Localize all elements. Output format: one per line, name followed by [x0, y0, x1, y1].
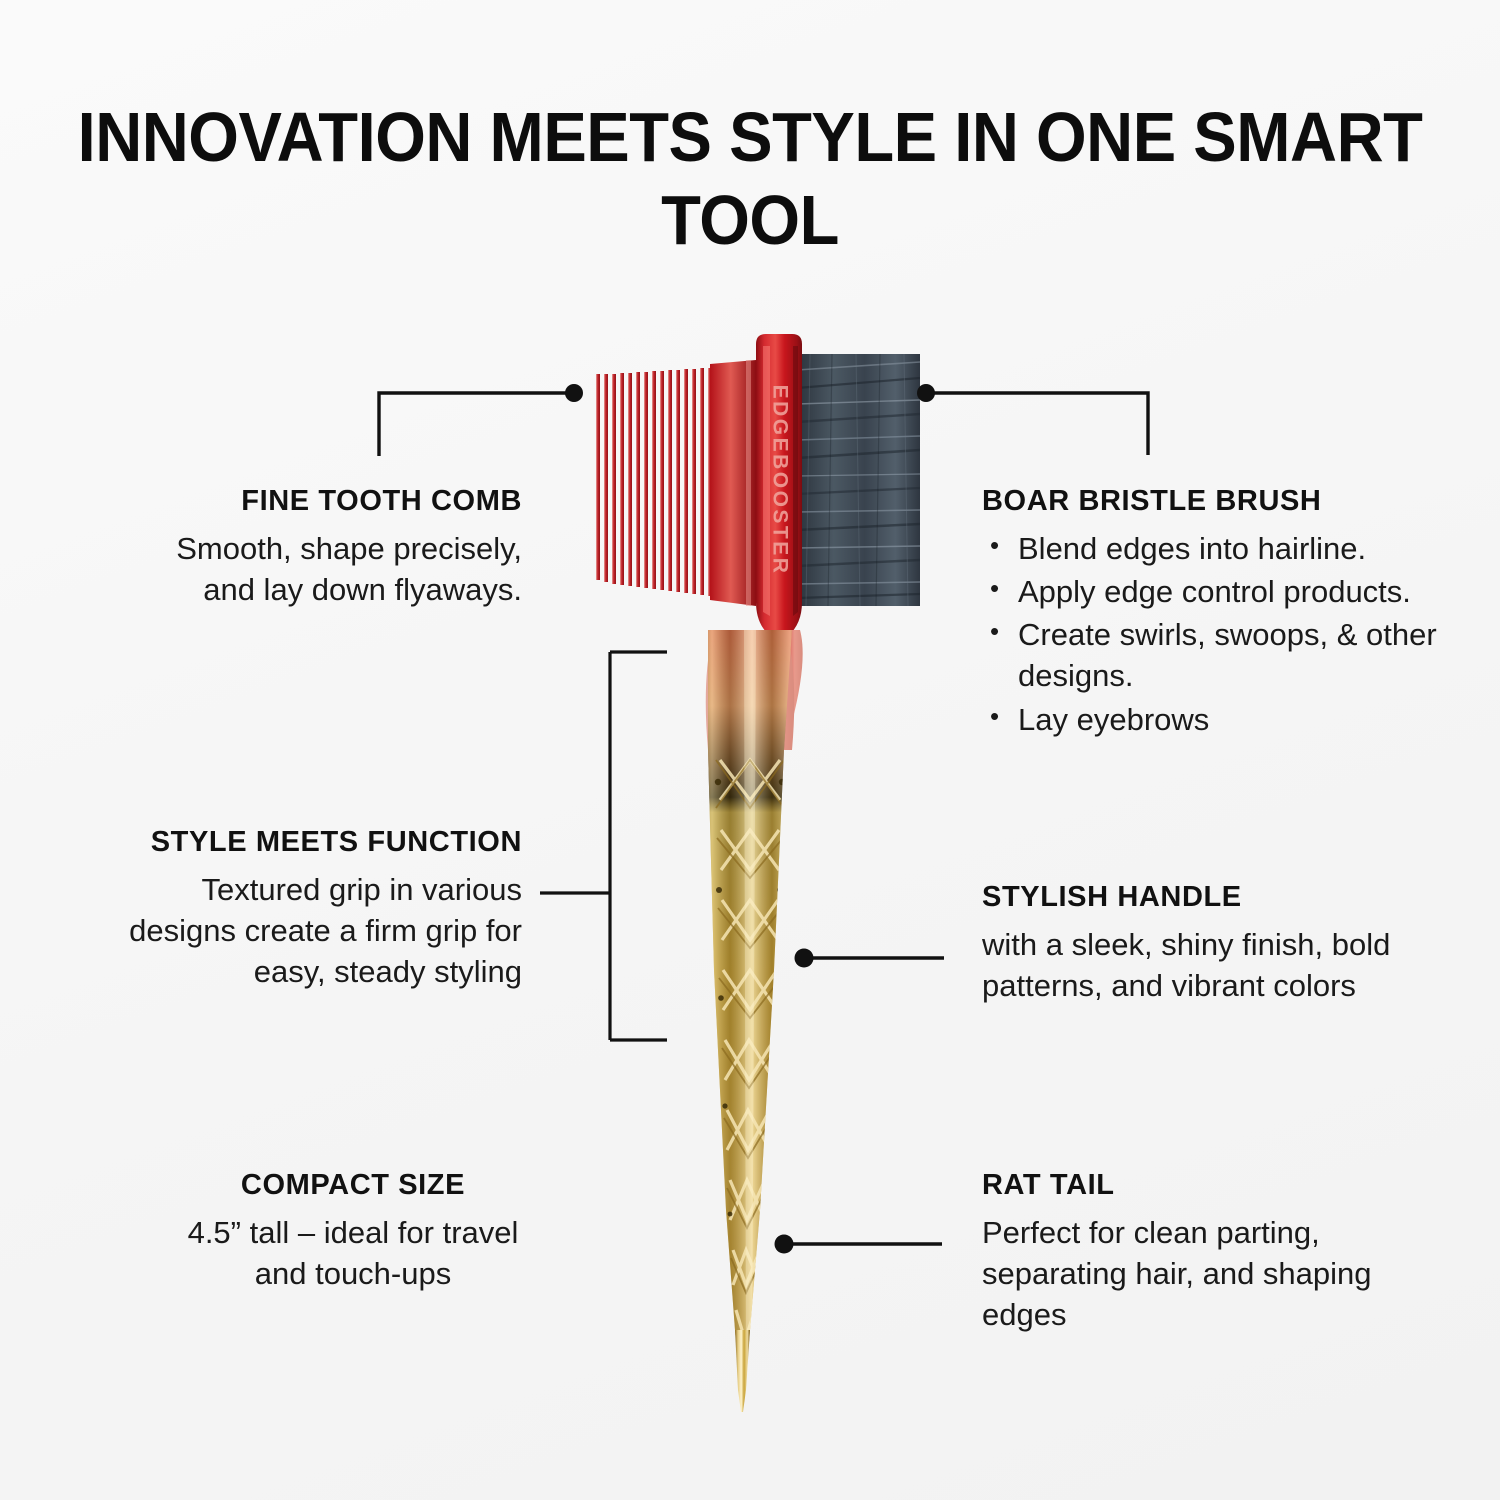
callout-body-rat-tail: Perfect for clean parting, separating ha…	[982, 1212, 1402, 1336]
callout-rat-tail: RAT TAIL Perfect for clean parting, sepa…	[982, 1168, 1402, 1335]
list-item-label: Blend edges into hairline.	[1018, 531, 1366, 566]
bullet-icon: •	[990, 527, 999, 565]
leader-stylish-handle	[795, 949, 945, 968]
callout-heading-boar-bristle-brush: BOAR BRISTLE BRUSH	[982, 484, 1452, 519]
leader-fine-tooth-comb	[379, 384, 583, 456]
callout-boar-bristle-brush: BOAR BRISTLE BRUSH • Blend edges into ha…	[982, 484, 1452, 742]
callout-body-fine-tooth-comb: Smooth, shape precisely, and lay down fl…	[150, 528, 522, 610]
callout-body-style-meets-function: Textured grip in various designs create …	[90, 869, 522, 993]
callout-heading-fine-tooth-comb: FINE TOOTH COMB	[150, 484, 522, 519]
callout-heading-style-meets-function: STYLE MEETS FUNCTION	[90, 825, 522, 860]
callout-stylish-handle: STYLISH HANDLE with a sleek, shiny finis…	[982, 880, 1412, 1006]
leader-rat-tail	[775, 1235, 943, 1254]
callout-heading-rat-tail: RAT TAIL	[982, 1168, 1402, 1203]
callout-heading-compact-size: COMPACT SIZE	[180, 1168, 526, 1203]
list-item: • Apply edge control products.	[982, 571, 1452, 612]
callout-compact-size: COMPACT SIZE 4.5” tall – ideal for trave…	[180, 1168, 526, 1294]
callout-bullet-list-boar-bristle-brush: • Blend edges into hairline. • Apply edg…	[982, 528, 1452, 740]
callout-heading-stylish-handle: STYLISH HANDLE	[982, 880, 1412, 915]
list-item-label: Create swirls, swoops, & other designs.	[1018, 617, 1437, 693]
leader-style-meets-function	[540, 652, 667, 1040]
callout-style-meets-function: STYLE MEETS FUNCTION Textured grip in va…	[90, 825, 522, 992]
list-item: • Blend edges into hairline.	[982, 528, 1452, 569]
list-item: • Create swirls, swoops, & other designs…	[982, 614, 1452, 696]
leader-boar-bristle-brush	[917, 384, 1148, 455]
bullet-icon: •	[990, 613, 999, 651]
list-item: • Lay eyebrows	[982, 699, 1452, 740]
list-item-label: Apply edge control products.	[1018, 574, 1411, 609]
bullet-icon: •	[990, 698, 999, 736]
callout-body-stylish-handle: with a sleek, shiny finish, bold pattern…	[982, 924, 1412, 1006]
bullet-icon: •	[990, 570, 999, 608]
callout-body-compact-size: 4.5” tall – ideal for travel and touch-u…	[180, 1212, 526, 1294]
callout-fine-tooth-comb: FINE TOOTH COMB Smooth, shape precisely,…	[150, 484, 522, 610]
list-item-label: Lay eyebrows	[1018, 702, 1209, 737]
infographic-canvas: INNOVATION MEETS STYLE IN ONE SMART TOOL	[0, 0, 1500, 1500]
